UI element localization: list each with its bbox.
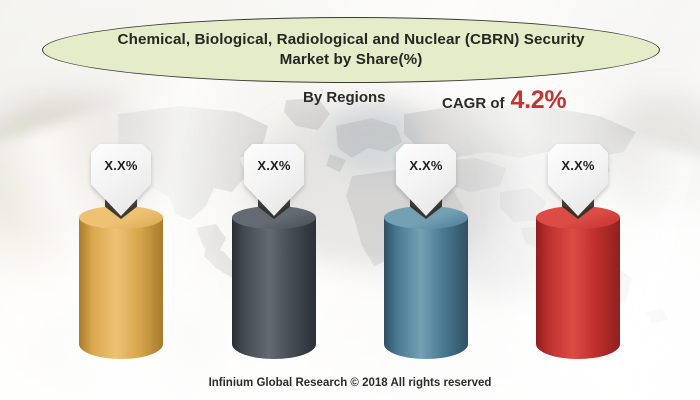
value-callout-pin: X.X%	[396, 144, 456, 216]
cylinder-body	[384, 217, 468, 359]
callout-pin-shape	[244, 144, 304, 216]
value-callout-pin: X.X%	[548, 144, 608, 216]
callout-value-text: X.X%	[548, 158, 608, 173]
copyright-footer: Infinium Global Research © 2018 All righ…	[0, 377, 700, 389]
value-callout-pin: X.X%	[244, 144, 304, 216]
cylinder-body	[536, 217, 620, 359]
bar-chart: X.X%North AmericaX.X%EuropeX.X%Asia-Paci…	[0, 0, 700, 400]
callout-value-text: X.X%	[396, 158, 456, 173]
cylinder-body	[232, 217, 316, 359]
infographic-canvas: Chemical, Biological, Radiological and N…	[0, 0, 700, 400]
cylinder-body	[79, 217, 163, 359]
value-callout-pin: X.X%	[91, 144, 151, 216]
callout-pin-shape	[91, 144, 151, 216]
callout-pin-shape	[548, 144, 608, 216]
callout-value-text: X.X%	[244, 158, 304, 173]
callout-pin-shape	[396, 144, 456, 216]
callout-value-text: X.X%	[91, 158, 151, 173]
